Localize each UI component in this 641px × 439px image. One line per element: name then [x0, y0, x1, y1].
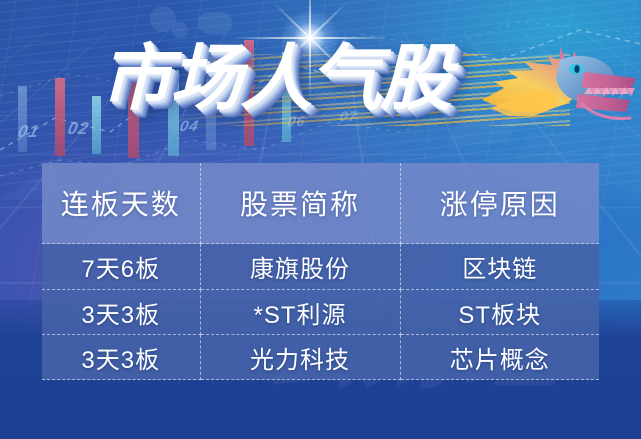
cell-reason: 芯片概念 [400, 335, 599, 380]
cell-days: 3天3板 [42, 335, 200, 380]
title-area: 市场人气股 [0, 30, 641, 126]
cell-days: 7天6板 [42, 244, 200, 290]
column-header-reason: 涨停原因 [400, 163, 599, 244]
table-row[interactable]: 7天6板 康旗股份 区块链 [42, 244, 599, 290]
column-header-days: 连板天数 [42, 163, 200, 244]
table-row[interactable]: 3天3板 光力科技 芯片概念 [42, 335, 599, 380]
cell-name: 康旗股份 [200, 244, 400, 290]
table-row[interactable]: 3天3板 *ST利源 ST板块 [42, 290, 599, 335]
cell-days: 3天3板 [42, 290, 200, 335]
hot-stocks-table: 连板天数 股票简称 涨停原因 7天6板 康旗股份 区块链 3天3板 *ST利源 … [42, 163, 599, 380]
column-header-name: 股票简称 [200, 163, 400, 244]
poster-canvas: 01 02 04 06 07 云财经 [0, 0, 641, 439]
page-title: 市场人气股 [100, 30, 450, 126]
cell-reason: ST板块 [400, 290, 599, 335]
cell-name: *ST利源 [200, 290, 400, 335]
cell-name: 光力科技 [200, 335, 400, 380]
table-header-row: 连板天数 股票简称 涨停原因 [42, 163, 599, 244]
cell-reason: 区块链 [400, 244, 599, 290]
